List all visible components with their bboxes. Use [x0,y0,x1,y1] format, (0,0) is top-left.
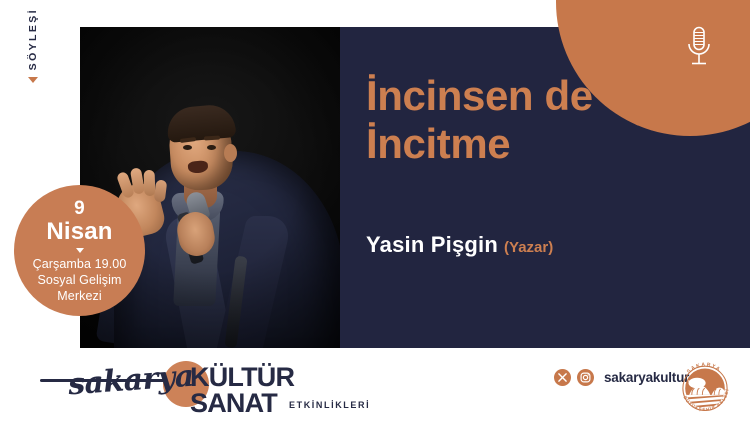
poster-footer: sakarya KÜLTÜR SANAT ETKİNLİKLERİ sakary… [0,348,750,428]
category-label-text: SÖYLEŞİ [28,8,39,70]
speaker-credit: Yasin Pişgin(Yazar) [366,232,553,258]
speaker-eye-left [183,145,192,150]
x-twitter-icon[interactable] [554,369,571,386]
sakarya-kultur-sanat-logo: sakarya KÜLTÜR SANAT ETKİNLİKLERİ [40,357,350,417]
speaker-eye-right [207,145,216,150]
social-handles: sakaryakultur [554,369,689,386]
triangle-marker-icon [28,77,38,83]
logo-kultur: KÜLTÜR [190,364,294,391]
hand-finger [144,170,156,196]
triangle-divider-icon [76,248,84,253]
logo-sanat: SANAT [190,390,277,417]
speaker-ear [224,144,237,162]
date-month: Nisan [46,219,112,244]
date-weekday-time: Çarşamba 19.00 [33,256,127,272]
date-day: 9 [74,199,85,218]
speaker-name: Yasin Pişgin [366,232,498,257]
venue-line-1: Sosyal Gelişim [37,272,121,288]
event-title-line-1: İncinsen de [366,72,726,120]
suit-lapel-right [213,216,294,348]
speaker-hair [166,103,237,143]
event-title-line-2: İncitme [366,120,726,168]
municipality-seal-logo: SAKARYA BÜYÜKŞEHİR BELEDİYESİ [672,354,738,420]
event-title: İncinsen de İncitme [366,72,726,168]
instagram-icon[interactable] [577,369,594,386]
logo-etkinlikleri: ETKİNLİKLERİ [289,400,370,410]
venue-line-2: Merkezi [57,288,101,304]
microphone-icon [684,26,714,68]
date-badge: 9 Nisan Çarşamba 19.00 Sosyal Gelişim Me… [14,185,145,316]
category-label: SÖYLEŞİ [22,8,44,118]
event-poster: SÖYLEŞİ 9 Nisan Çarşamba 19.00 Sosyal Ge… [0,0,750,428]
speaker-role: (Yazar) [504,239,553,256]
